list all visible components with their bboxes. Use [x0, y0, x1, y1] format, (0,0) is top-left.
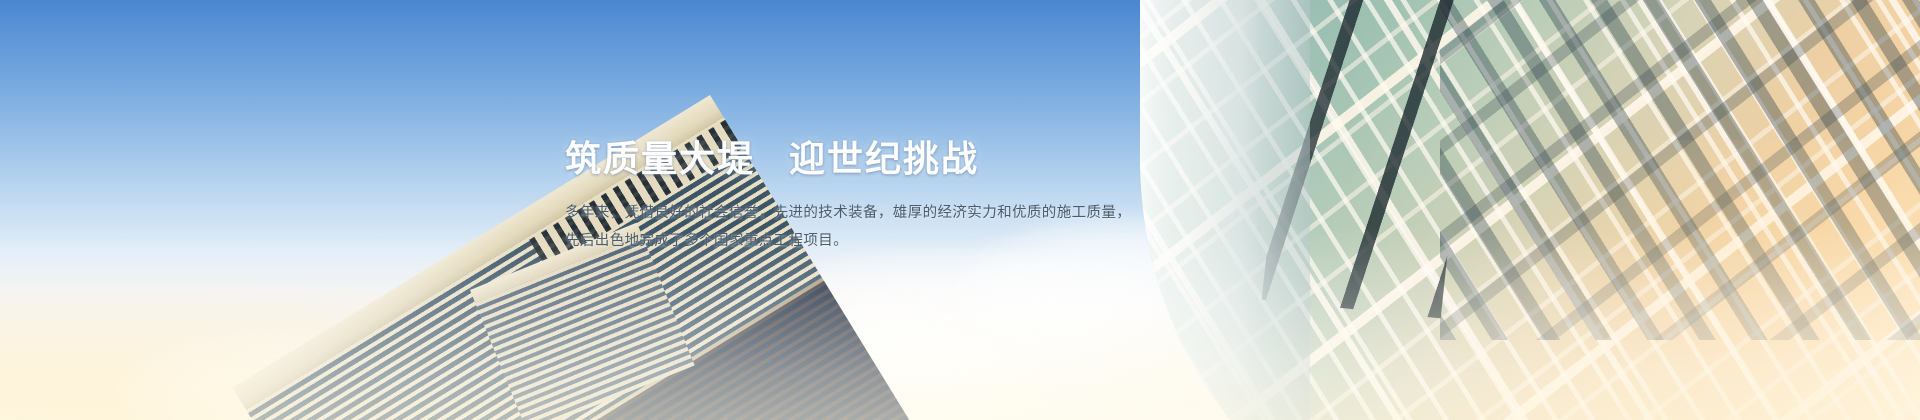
subtitle-line-2: 先后出色地完成了多个国家重点工程项目。	[565, 227, 1185, 255]
headline-phrase-2: 迎世纪挑战	[789, 138, 979, 179]
right-curved-glass-building	[1140, 0, 1920, 420]
banner-headline: 筑质量大堤迎世纪挑战	[565, 138, 1185, 179]
headline-phrase-1: 筑质量大堤	[565, 138, 755, 179]
banner-copy-block: 筑质量大堤迎世纪挑战 多年来，凭借良好的社会信誉，先进的技术装备，雄厚的经济实力…	[565, 138, 1185, 255]
subtitle-line-1: 多年来，凭借良好的社会信誉，先进的技术装备，雄厚的经济实力和优质的施工质量，	[565, 199, 1185, 227]
banner-subtitle: 多年来，凭借良好的社会信誉，先进的技术装备，雄厚的经济实力和优质的施工质量， 先…	[565, 199, 1185, 255]
hero-banner: 筑质量大堤迎世纪挑战 多年来，凭借良好的社会信誉，先进的技术装备，雄厚的经济实力…	[0, 0, 1920, 420]
glass-sunset-glow	[1380, 140, 1920, 420]
